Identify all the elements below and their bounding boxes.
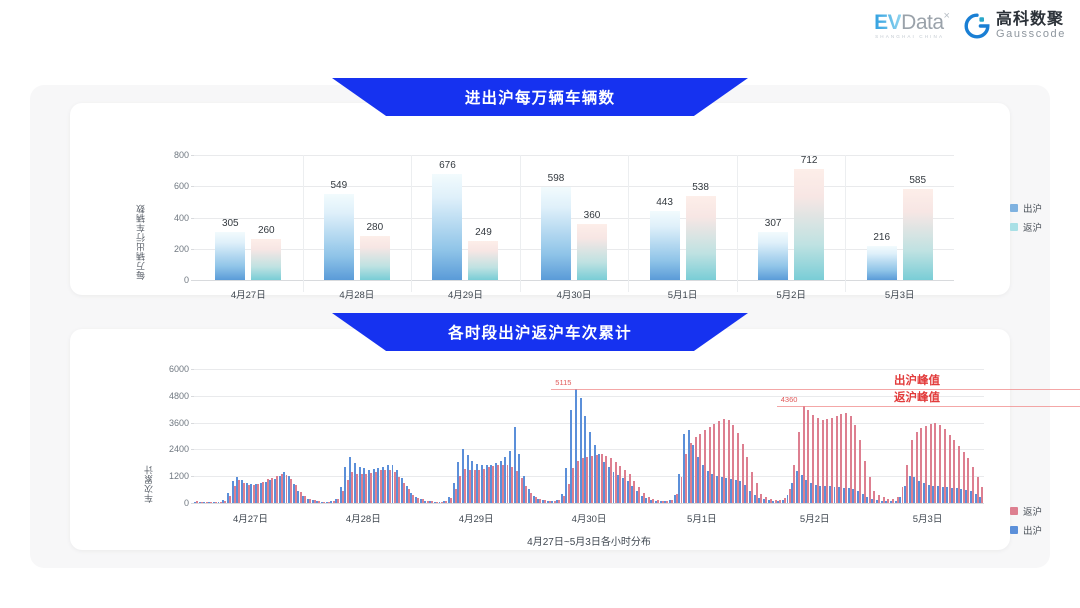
evdata-ev-text: EV xyxy=(874,12,901,33)
bar-value-label: 538 xyxy=(692,182,709,193)
evdata-superscript-icon: × xyxy=(944,11,950,22)
gridline-6000 xyxy=(194,369,984,370)
chart1-title-banner: 进出沪每万辆车辆数 xyxy=(332,78,748,116)
x-axis-label-4月27日: 4月27日 xyxy=(231,287,266,301)
bar-value-label: 676 xyxy=(439,160,456,171)
bar-返沪-4月28日: 280 xyxy=(360,236,390,280)
y-tickmark-2400 xyxy=(191,449,194,450)
bar-value-label: 549 xyxy=(331,180,348,191)
chart2-title-banner: 各时段出沪返沪车次累计 xyxy=(332,313,748,351)
group-separator-2 xyxy=(411,155,412,292)
gridline-400 xyxy=(194,218,954,219)
y-tick-0: 0 xyxy=(184,275,189,285)
y-tick-2400: 2400 xyxy=(169,444,189,454)
bar-value-label: 307 xyxy=(765,218,782,229)
x-axis-label-4月30日: 4月30日 xyxy=(557,287,592,301)
bar-chart-hourly-trips: 012002400360048006000车次累计4月27日4月28日4月29日… xyxy=(194,369,984,503)
x-axis-label-5月1日: 5月1日 xyxy=(668,287,698,301)
y-tick-6000: 6000 xyxy=(169,364,189,374)
bar-出沪-4月28日: 549 xyxy=(324,194,354,280)
evdata-logo: EV Data × SHANGHAI CHINA xyxy=(874,12,950,40)
bar-返沪-4月27日: 260 xyxy=(251,239,281,280)
y-tick-1200: 1200 xyxy=(169,471,189,481)
legend-label-1: 返沪 xyxy=(1023,220,1042,234)
x-axis-label-4月30日: 4月30日 xyxy=(572,511,607,525)
evdata-tagline: SHANGHAI CHINA xyxy=(875,35,944,40)
evdata-data-text: Data xyxy=(901,12,943,33)
bar-value-label: 249 xyxy=(475,227,492,238)
group-separator-6 xyxy=(845,155,846,292)
legend-swatch-0 xyxy=(1010,204,1018,212)
chart1-title: 进出沪每万辆车辆数 xyxy=(465,86,615,108)
bar-返沪-4月30日: 360 xyxy=(577,224,607,280)
gausscode-g-mark-icon xyxy=(964,13,990,39)
gausscode-wordmark: 高科数聚 Gausscode xyxy=(996,12,1066,40)
x-axis-label-5月2日: 5月2日 xyxy=(800,511,830,525)
bar-value-label: 305 xyxy=(222,218,239,229)
gausscode-name-en: Gausscode xyxy=(996,29,1066,41)
chart-card-hourly-trips: 012002400360048006000车次累计4月27日4月28日4月29日… xyxy=(70,329,1010,550)
gridline-0 xyxy=(194,503,984,504)
x-axis-label-4月28日: 4月28日 xyxy=(346,511,381,525)
bar-value-label: 280 xyxy=(367,222,384,233)
chart1-legend: 出沪返沪 xyxy=(1010,201,1042,234)
annotation-line-back-peak xyxy=(777,406,1080,407)
gridline-800 xyxy=(194,155,954,156)
chart2-legend: 返沪出沪 xyxy=(1010,504,1042,537)
y-tickmark-0 xyxy=(191,280,194,281)
gridline-0 xyxy=(194,280,954,281)
y-tickmark-800 xyxy=(191,155,194,156)
y-tick-400: 400 xyxy=(174,213,189,223)
y-tickmark-1200 xyxy=(191,476,194,477)
bar-出沪-4月29日: 676 xyxy=(432,174,462,280)
x-axis-label-5月3日: 5月3日 xyxy=(913,511,943,525)
y-tickmark-200 xyxy=(191,249,194,250)
x-axis-label-5月2日: 5月2日 xyxy=(776,287,806,301)
bar-value-label: 260 xyxy=(258,225,275,236)
bar-返沪-4月29日: 249 xyxy=(468,241,498,280)
legend-item-0: 返沪 xyxy=(1010,504,1042,518)
group-separator-1 xyxy=(303,155,304,292)
y-tick-0: 0 xyxy=(184,498,189,508)
y-tickmark-6000 xyxy=(191,369,194,370)
y-tick-4800: 4800 xyxy=(169,391,189,401)
bar-value-label: 443 xyxy=(656,197,673,208)
y-tickmark-4800 xyxy=(191,396,194,397)
bar-出沪-5月3日: 216 xyxy=(867,246,897,280)
y-tickmark-3600 xyxy=(191,423,194,424)
y-tickmark-400 xyxy=(191,218,194,219)
y-tickmark-0 xyxy=(191,503,194,504)
chart2-title: 各时段出沪返沪车次累计 xyxy=(448,321,632,343)
gausscode-logo: 高科数聚 Gausscode xyxy=(964,12,1066,40)
bar-出沪-4月30日: 598 xyxy=(541,187,571,280)
brand-logo-bar: EV Data × SHANGHAI CHINA 高科数聚 Gausscode xyxy=(874,12,1066,40)
bar-value-label: 216 xyxy=(873,232,890,243)
gridline-4800 xyxy=(194,396,984,397)
annotation-value-back-peak: 4360 xyxy=(781,395,798,404)
bar-chart-vehicles-per-10k: 0200400600800每万辆出行车辆数3052604月27日5492804月… xyxy=(194,155,954,280)
legend-label-0: 返沪 xyxy=(1023,504,1042,518)
x-axis-label-5月1日: 5月1日 xyxy=(687,511,717,525)
hourly-bar-back xyxy=(981,487,983,503)
legend-item-1: 出沪 xyxy=(1010,523,1042,537)
bar-出沪-5月2日: 307 xyxy=(758,232,788,280)
bar-value-label: 712 xyxy=(801,155,818,166)
annotation-value-out-peak: 5115 xyxy=(555,378,571,387)
y-tick-3600: 3600 xyxy=(169,418,189,428)
chart-card-vehicles-per-10k: 0200400600800每万辆出行车辆数3052604月27日5492804月… xyxy=(70,103,1010,295)
bar-value-label: 585 xyxy=(909,175,926,186)
annotation-caption-back-peak: 返沪峰值 xyxy=(894,389,940,405)
legend-swatch-1 xyxy=(1010,223,1018,231)
x-axis-label-4月28日: 4月28日 xyxy=(339,287,374,301)
group-separator-4 xyxy=(628,155,629,292)
y-tick-800: 800 xyxy=(174,150,189,160)
x-axis-label-5月3日: 5月3日 xyxy=(885,287,915,301)
bar-返沪-5月3日: 585 xyxy=(903,189,933,280)
legend-item-1: 返沪 xyxy=(1010,220,1042,234)
gridline-3600 xyxy=(194,423,984,424)
group-separator-5 xyxy=(737,155,738,292)
chart2-x-axis-title: 4月27日~5月3日各小时分布 xyxy=(527,533,651,548)
legend-label-0: 出沪 xyxy=(1023,201,1042,215)
bar-返沪-5月2日: 712 xyxy=(794,169,824,280)
gridline-600 xyxy=(194,186,954,187)
legend-swatch-1 xyxy=(1010,526,1018,534)
evdata-wordmark: EV Data × xyxy=(874,12,950,33)
annotation-line-out-peak xyxy=(551,389,1080,390)
x-axis-label-4月29日: 4月29日 xyxy=(448,287,483,301)
x-axis-label-4月27日: 4月27日 xyxy=(233,511,268,525)
legend-item-0: 出沪 xyxy=(1010,201,1042,215)
bar-出沪-4月27日: 305 xyxy=(215,232,245,280)
y-tick-200: 200 xyxy=(174,244,189,254)
legend-label-1: 出沪 xyxy=(1023,523,1042,537)
annotation-caption-out-peak: 出沪峰值 xyxy=(894,372,940,388)
legend-swatch-0 xyxy=(1010,507,1018,515)
y-tick-600: 600 xyxy=(174,181,189,191)
x-axis-label-4月29日: 4月29日 xyxy=(459,511,494,525)
chart2-y-axis-title: 车次累计 xyxy=(142,369,155,503)
bar-返沪-5月1日: 538 xyxy=(686,196,716,280)
bar-value-label: 598 xyxy=(548,173,565,184)
gausscode-name-cn: 高科数聚 xyxy=(996,12,1066,29)
group-separator-3 xyxy=(520,155,521,292)
bar-value-label: 360 xyxy=(584,210,601,221)
chart1-y-axis-title: 每万辆出行车辆数 xyxy=(134,155,147,280)
bar-出沪-5月1日: 443 xyxy=(650,211,680,280)
y-tickmark-600 xyxy=(191,186,194,187)
gridline-200 xyxy=(194,249,954,250)
